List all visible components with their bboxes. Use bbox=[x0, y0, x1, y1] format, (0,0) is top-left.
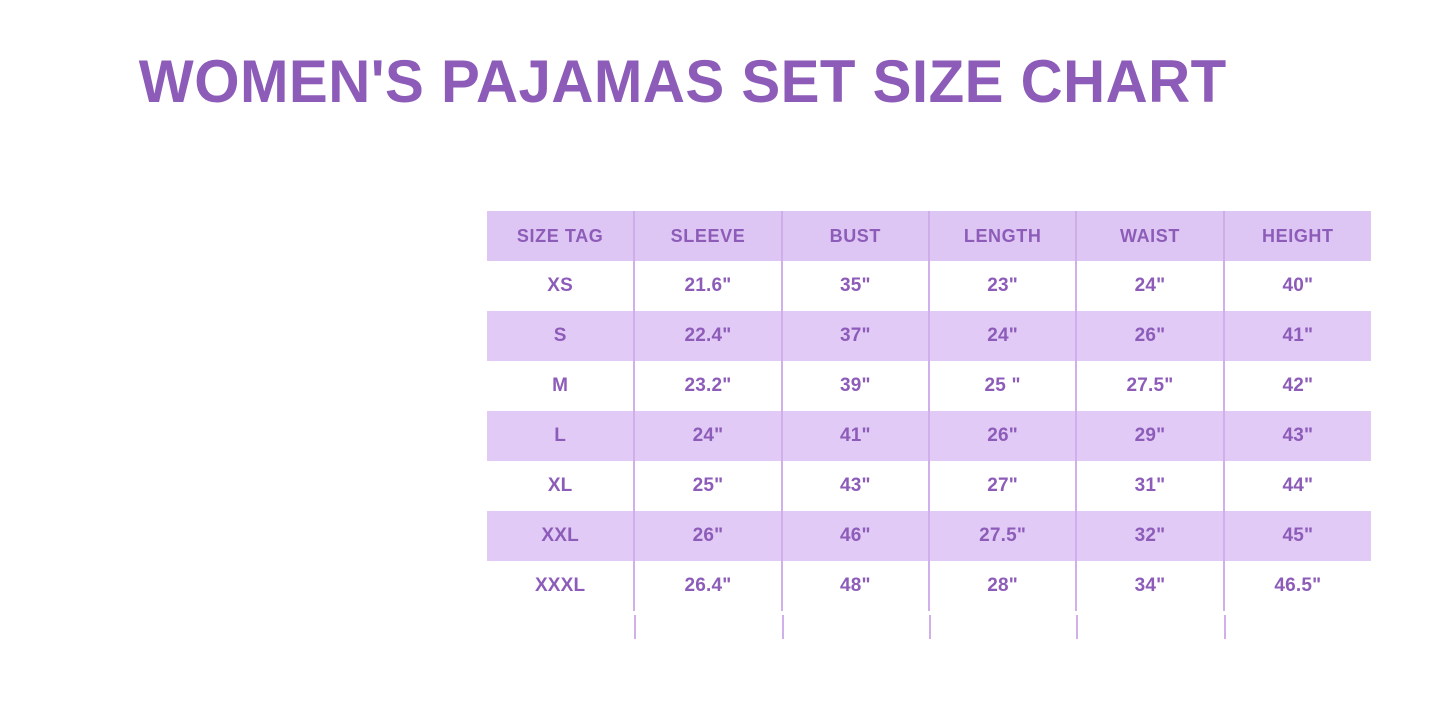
cell-height: 44" bbox=[1224, 461, 1371, 511]
cell-size-tag: S bbox=[487, 311, 634, 361]
column-header-height: HEIGHT bbox=[1224, 211, 1371, 261]
table-row: XXL 26" 46" 27.5" 32" 45" bbox=[487, 511, 1371, 561]
cell-size-tag: XS bbox=[487, 261, 634, 311]
column-header-sleeve: SLEEVE bbox=[634, 211, 781, 261]
cell-waist: 26" bbox=[1076, 311, 1223, 361]
cell-length: 27" bbox=[929, 461, 1076, 511]
cell-length: 28" bbox=[929, 561, 1076, 611]
cell-bust: 48" bbox=[782, 561, 929, 611]
page-title: WOMEN'S PAJAMAS SET SIZE CHART bbox=[22, 52, 1424, 112]
cell-size-tag: XL bbox=[487, 461, 634, 511]
cell-sleeve: 22.4" bbox=[634, 311, 781, 361]
table-row: S 22.4" 37" 24" 26" 41" bbox=[487, 311, 1371, 361]
cell-sleeve: 23.2" bbox=[634, 361, 781, 411]
cell-waist: 24" bbox=[1076, 261, 1223, 311]
table-header: SIZE TAG SLEEVE BUST LENGTH WAIST HEIGHT bbox=[487, 211, 1371, 261]
cell-length: 26" bbox=[929, 411, 1076, 461]
cell-waist: 29" bbox=[1076, 411, 1223, 461]
cell-waist: 31" bbox=[1076, 461, 1223, 511]
cell-height: 43" bbox=[1224, 411, 1371, 461]
column-divider-extensions bbox=[487, 615, 1371, 639]
cell-bust: 37" bbox=[782, 311, 929, 361]
size-chart-container: SIZE TAG SLEEVE BUST LENGTH WAIST HEIGHT… bbox=[487, 211, 1371, 611]
cell-waist: 32" bbox=[1076, 511, 1223, 561]
cell-length: 25 " bbox=[929, 361, 1076, 411]
column-header-waist: WAIST bbox=[1076, 211, 1223, 261]
cell-size-tag: M bbox=[487, 361, 634, 411]
cell-length: 27.5" bbox=[929, 511, 1076, 561]
cell-bust: 39" bbox=[782, 361, 929, 411]
table-row: XXXL 26.4" 48" 28" 34" 46.5" bbox=[487, 561, 1371, 611]
cell-sleeve: 25" bbox=[634, 461, 781, 511]
cell-length: 24" bbox=[929, 311, 1076, 361]
size-chart-table: SIZE TAG SLEEVE BUST LENGTH WAIST HEIGHT… bbox=[487, 211, 1371, 611]
table-body: XS 21.6" 35" 23" 24" 40" S 22.4" 37" 24"… bbox=[487, 261, 1371, 611]
table-header-row: SIZE TAG SLEEVE BUST LENGTH WAIST HEIGHT bbox=[487, 211, 1371, 261]
cell-size-tag: L bbox=[487, 411, 634, 461]
cell-bust: 35" bbox=[782, 261, 929, 311]
column-divider-1 bbox=[634, 615, 636, 639]
table-row: XS 21.6" 35" 23" 24" 40" bbox=[487, 261, 1371, 311]
cell-waist: 27.5" bbox=[1076, 361, 1223, 411]
cell-height: 45" bbox=[1224, 511, 1371, 561]
cell-bust: 46" bbox=[782, 511, 929, 561]
table-row: XL 25" 43" 27" 31" 44" bbox=[487, 461, 1371, 511]
column-divider-3 bbox=[929, 615, 931, 639]
column-divider-2 bbox=[782, 615, 784, 639]
cell-sleeve: 21.6" bbox=[634, 261, 781, 311]
cell-waist: 34" bbox=[1076, 561, 1223, 611]
cell-bust: 43" bbox=[782, 461, 929, 511]
column-divider-5 bbox=[1224, 615, 1226, 639]
cell-height: 42" bbox=[1224, 361, 1371, 411]
cell-sleeve: 26.4" bbox=[634, 561, 781, 611]
cell-length: 23" bbox=[929, 261, 1076, 311]
table-row: L 24" 41" 26" 29" 43" bbox=[487, 411, 1371, 461]
cell-height: 46.5" bbox=[1224, 561, 1371, 611]
cell-height: 41" bbox=[1224, 311, 1371, 361]
column-header-bust: BUST bbox=[782, 211, 929, 261]
cell-sleeve: 24" bbox=[634, 411, 781, 461]
cell-sleeve: 26" bbox=[634, 511, 781, 561]
cell-size-tag: XXL bbox=[487, 511, 634, 561]
column-divider-4 bbox=[1076, 615, 1078, 639]
table-row: M 23.2" 39" 25 " 27.5" 42" bbox=[487, 361, 1371, 411]
cell-size-tag: XXXL bbox=[487, 561, 634, 611]
cell-height: 40" bbox=[1224, 261, 1371, 311]
cell-bust: 41" bbox=[782, 411, 929, 461]
column-header-size-tag: SIZE TAG bbox=[487, 211, 634, 261]
column-header-length: LENGTH bbox=[929, 211, 1076, 261]
